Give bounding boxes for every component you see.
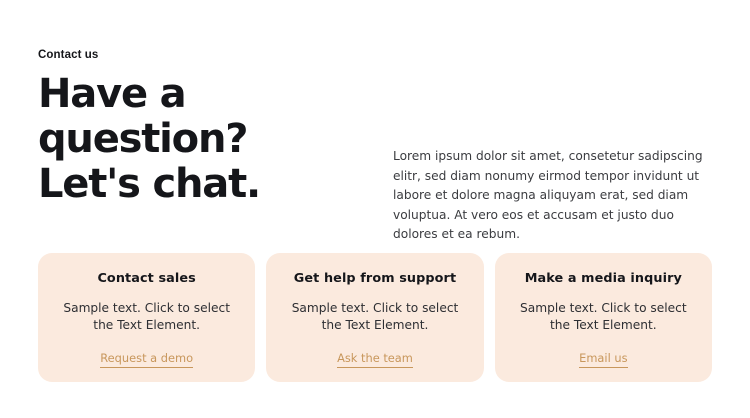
hero-section: Contact us Have a question? Let's chat. …: [38, 48, 712, 223]
card-description: Sample text. Click to select the Text El…: [517, 300, 690, 334]
contact-card-sales[interactable]: Contact sales Sample text. Click to sele…: [38, 253, 255, 382]
contact-card-media[interactable]: Make a media inquiry Sample text. Click …: [495, 253, 712, 382]
contact-page: Contact us Have a question? Let's chat. …: [0, 0, 750, 418]
contact-cards: Contact sales Sample text. Click to sele…: [38, 253, 712, 382]
card-description: Sample text. Click to select the Text El…: [288, 300, 461, 334]
card-link-email-us[interactable]: Email us: [579, 351, 627, 368]
contact-card-support[interactable]: Get help from support Sample text. Click…: [266, 253, 483, 382]
card-description: Sample text. Click to select the Text El…: [60, 300, 233, 334]
card-title: Contact sales: [97, 271, 195, 287]
page-title-line-1: Have a: [38, 72, 368, 117]
page-title-line-3: Let's chat.: [38, 162, 368, 207]
page-title-line-2: question?: [38, 117, 368, 162]
page-title: Have a question? Let's chat.: [38, 72, 368, 207]
hero-paragraph: Lorem ipsum dolor sit amet, consetetur s…: [393, 147, 713, 245]
card-title: Get help from support: [294, 271, 456, 287]
eyebrow-label: Contact us: [38, 48, 712, 62]
card-link-ask-the-team[interactable]: Ask the team: [337, 351, 413, 368]
card-title: Make a media inquiry: [525, 271, 682, 287]
card-link-request-a-demo[interactable]: Request a demo: [100, 351, 193, 368]
